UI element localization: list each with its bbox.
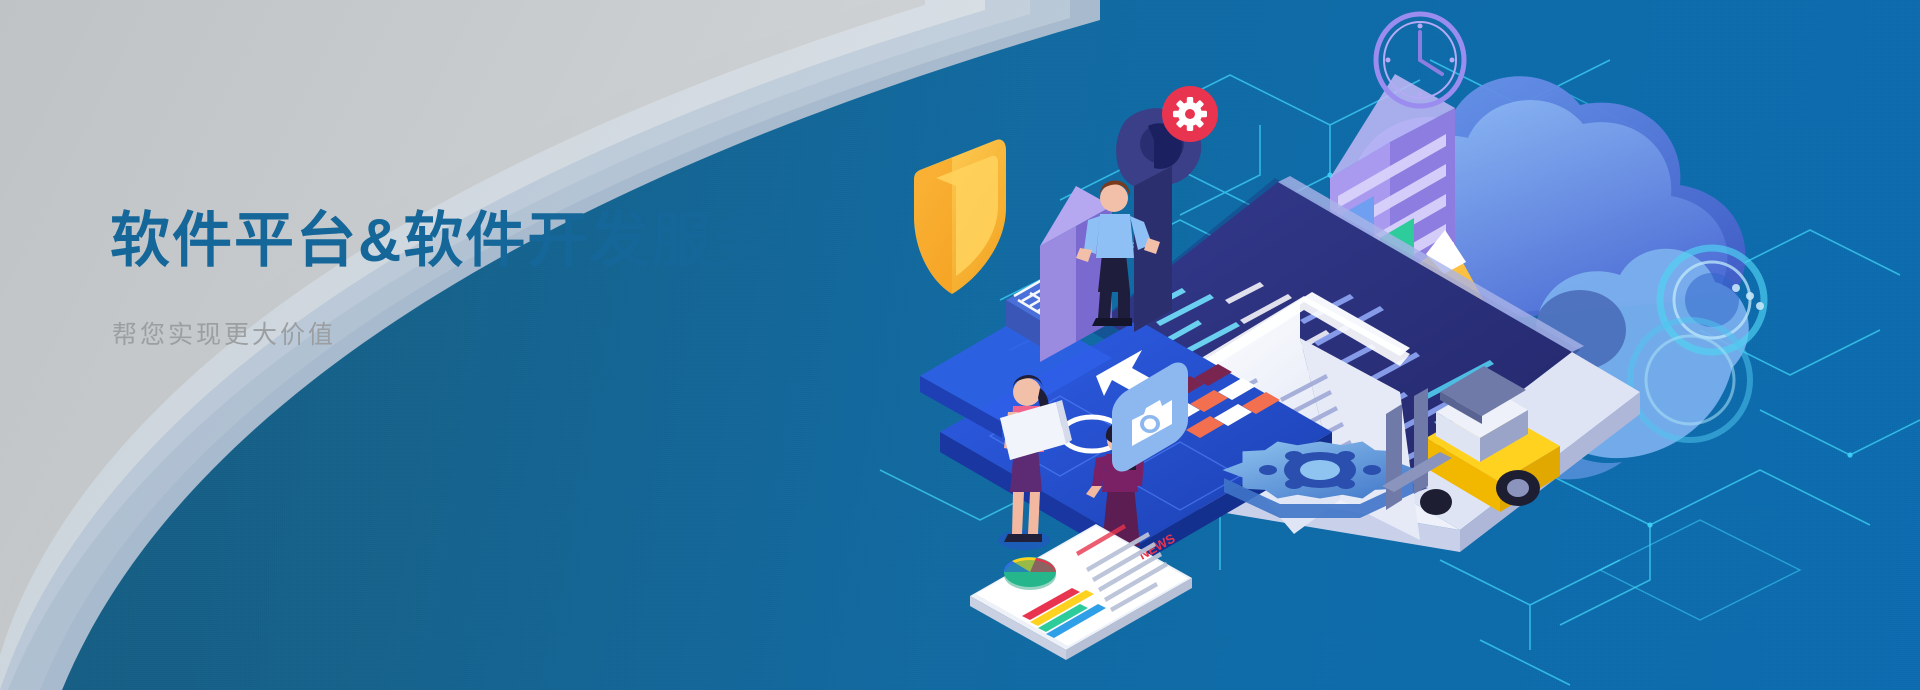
shield-icon xyxy=(914,139,1006,294)
page-title: 软件平台&软件开发服务 xyxy=(110,206,870,277)
gear-icon-badge xyxy=(1162,86,1218,142)
pie-chart xyxy=(1004,557,1056,590)
clock-icon xyxy=(1376,14,1464,106)
hero-banner: 软件平台&软件开发服务 帮您实现更大价值 xyxy=(0,0,1920,690)
page-subtitle: 帮您实现更大价值 xyxy=(112,315,870,351)
hero-copy: 软件平台&软件开发服务 帮您实现更大价值 xyxy=(110,206,870,351)
hero-illustration: NEWS xyxy=(880,0,1920,690)
